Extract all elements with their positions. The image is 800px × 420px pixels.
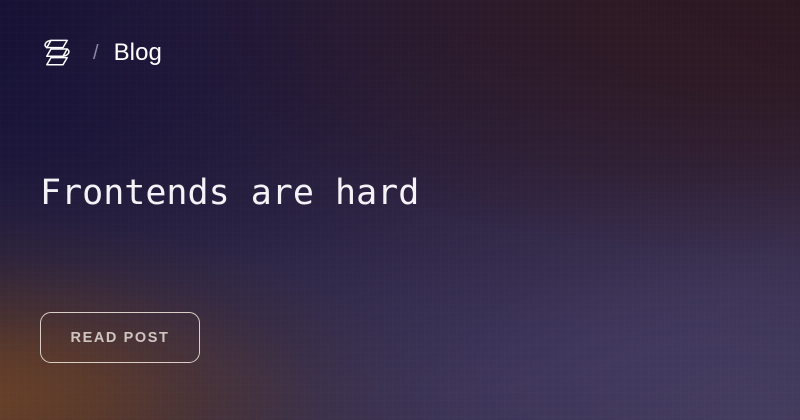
page-title: Frontends are hard — [40, 170, 419, 216]
page-content: / Blog Frontends are hard READ POST — [0, 0, 800, 420]
stacked-layers-logo-icon — [40, 36, 74, 70]
site-logo-link[interactable] — [40, 36, 74, 70]
read-post-button[interactable]: READ POST — [40, 312, 200, 363]
breadcrumb: / Blog — [40, 33, 162, 73]
breadcrumb-separator: / — [93, 43, 99, 63]
breadcrumb-item-blog[interactable]: Blog — [114, 41, 162, 65]
blog-hero-page: / Blog Frontends are hard READ POST — [0, 0, 800, 420]
